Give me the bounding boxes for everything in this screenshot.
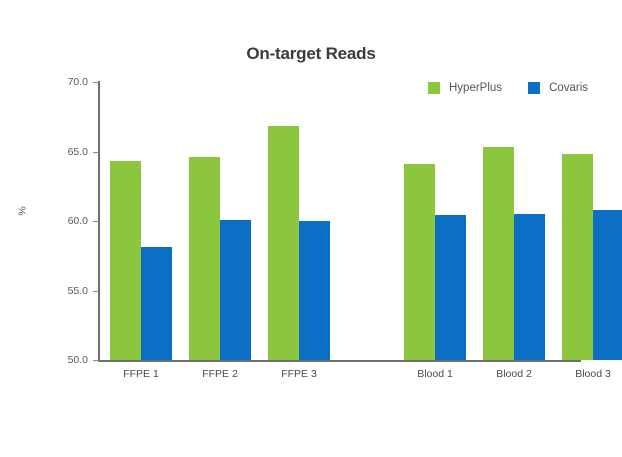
y-axis-tick-label: 70.0 — [44, 76, 88, 88]
chart-container: On-target Reads HyperPlusCovaris % 70.06… — [0, 0, 622, 457]
bar-hyperplus-blood-3 — [562, 154, 593, 360]
bar-covaris-blood-1 — [435, 215, 466, 360]
x-axis-label: FFPE 2 — [202, 368, 238, 380]
y-axis-tick-label: 60.0 — [44, 215, 88, 227]
bar-covaris-ffpe-3 — [299, 221, 330, 360]
bar-hyperplus-ffpe-3 — [268, 126, 299, 360]
y-axis-tick-label: 65.0 — [44, 146, 88, 158]
x-axis-label: Blood 3 — [575, 368, 611, 380]
x-axis-line — [98, 360, 581, 362]
x-axis-label: FFPE 1 — [123, 368, 159, 380]
bar-covaris-blood-2 — [514, 214, 545, 360]
bar-hyperplus-ffpe-2 — [189, 157, 220, 360]
x-axis-label: Blood 2 — [496, 368, 532, 380]
x-axis-label: Blood 1 — [417, 368, 453, 380]
chart-title: On-target Reads — [0, 44, 622, 64]
plot-area — [99, 82, 581, 360]
y-axis-tick-label: 50.0 — [44, 354, 88, 366]
bar-covaris-ffpe-1 — [141, 247, 172, 360]
bar-hyperplus-blood-2 — [483, 147, 514, 360]
bar-hyperplus-blood-1 — [404, 164, 435, 360]
y-axis-tick-label: 55.0 — [44, 285, 88, 297]
bar-hyperplus-ffpe-1 — [110, 161, 141, 360]
y-axis-title: % — [17, 206, 29, 215]
y-axis-tick — [93, 360, 99, 361]
bar-covaris-blood-3 — [593, 210, 622, 360]
x-axis-label: FFPE 3 — [281, 368, 317, 380]
bar-covaris-ffpe-2 — [220, 220, 251, 360]
